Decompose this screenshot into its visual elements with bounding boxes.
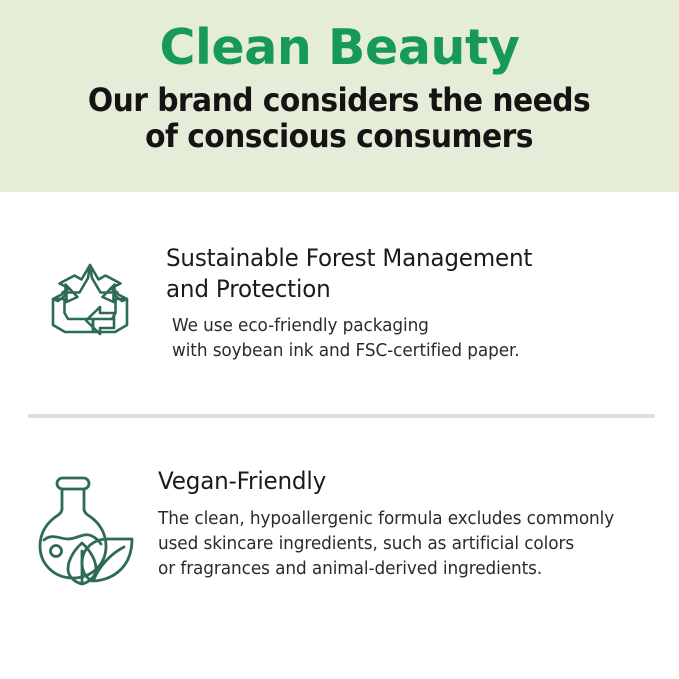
- flask-leaf-icon-glyph: [34, 471, 138, 587]
- feature-vegan-friendly-body-line-3: or fragrances and animal-derived ingredi…: [158, 557, 614, 582]
- feature-vegan-friendly-heading: Vegan-Friendly: [158, 466, 612, 497]
- feature-sustainable-forest-heading-line-2: and Protection: [166, 274, 532, 305]
- feature-sustainable-forest-heading: Sustainable Forest Management and Protec…: [166, 243, 532, 305]
- feature-sustainable-forest-heading-line-1: Sustainable Forest Management: [166, 243, 532, 274]
- feature-vegan-friendly-body-line-2: used skincare ingredients, such as artif…: [158, 532, 614, 557]
- page-subtitle-line-2: of conscious consumers: [88, 119, 590, 155]
- section-divider: [28, 414, 655, 418]
- feature-vegan-friendly: Vegan-Friendly The clean, hypoallergenic…: [28, 466, 668, 587]
- feature-vegan-friendly-body-line-1: The clean, hypoallergenic formula exclud…: [158, 507, 614, 532]
- recycle-icon: [28, 243, 152, 351]
- page-subtitle-line-1: Our brand considers the needs: [88, 83, 590, 119]
- page-subtitle: Our brand considers the needs of conscio…: [88, 83, 590, 155]
- feature-sustainable-forest-body-line-1: We use eco-friendly packaging: [172, 314, 534, 339]
- feature-vegan-friendly-body: The clean, hypoallergenic formula exclud…: [158, 507, 614, 582]
- feature-sustainable-forest-text: Sustainable Forest Management and Protec…: [166, 243, 548, 364]
- feature-sustainable-forest-body: We use eco-friendly packaging with soybe…: [172, 314, 534, 364]
- page-title: Clean Beauty: [159, 22, 519, 75]
- feature-vegan-friendly-heading-line-1: Vegan-Friendly: [158, 466, 612, 497]
- flask-leaf-icon: [28, 466, 144, 587]
- recycle-icon-glyph: [40, 251, 140, 351]
- header-banner: Clean Beauty Our brand considers the nee…: [0, 0, 679, 192]
- feature-vegan-friendly-text: Vegan-Friendly The clean, hypoallergenic…: [158, 466, 631, 582]
- feature-sustainable-forest: Sustainable Forest Management and Protec…: [28, 243, 668, 364]
- clean-beauty-infographic: Clean Beauty Our brand considers the nee…: [0, 0, 679, 679]
- feature-sustainable-forest-body-line-2: with soybean ink and FSC-certified paper…: [172, 339, 534, 364]
